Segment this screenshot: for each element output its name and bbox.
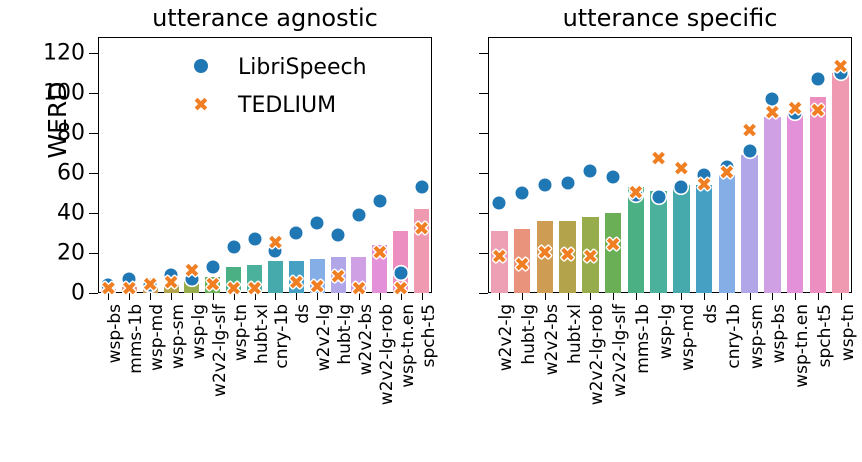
- bar: [832, 73, 848, 293]
- x-axis-tick-label: wsp-md: [678, 304, 698, 371]
- data-point-librispeech: [675, 181, 688, 194]
- legend-x-icon: ✖: [186, 96, 216, 115]
- y-axis-tick: [89, 253, 98, 254]
- data-point-librispeech: [811, 73, 824, 86]
- data-point-tedlium: ✖: [393, 281, 409, 297]
- x-axis-tick-label: wsp-bs: [105, 304, 125, 363]
- data-point-tedlium: ✖: [491, 249, 507, 265]
- x-axis-tick-label: ds: [701, 304, 721, 324]
- x-axis-tick: [750, 293, 751, 300]
- y-axis-tick: [89, 53, 98, 54]
- bar: [787, 113, 803, 293]
- y-axis-tick: [89, 93, 98, 94]
- y-axis-tick: [89, 213, 98, 214]
- data-point-tedlium: ✖: [651, 151, 667, 167]
- x-axis-tick: [681, 293, 682, 300]
- x-axis-tick: [522, 293, 523, 300]
- legend-label: TEDLIUM: [238, 93, 336, 118]
- x-axis-tick: [192, 293, 193, 300]
- data-point-tedlium: ✖: [309, 279, 325, 295]
- x-axis-tick: [422, 293, 423, 300]
- data-point-tedlium: ✖: [163, 275, 179, 291]
- y-axis-tick: [89, 293, 98, 294]
- data-point-tedlium: ✖: [537, 245, 553, 261]
- data-point-librispeech: [516, 187, 529, 200]
- bar: [810, 97, 826, 293]
- x-axis-tick: [499, 293, 500, 300]
- x-axis-tick: [636, 293, 637, 300]
- bar: [741, 155, 757, 293]
- x-axis-tick-label: w2v2-lg-slf: [210, 304, 230, 397]
- x-axis-tick: [338, 293, 339, 300]
- data-point-librispeech: [206, 261, 219, 274]
- panel-utterance-specific: utterance specific w2v2-lghubt-lgw2v2-bs…: [488, 37, 852, 293]
- x-axis-tick: [727, 293, 728, 300]
- x-axis-tick: [171, 293, 172, 300]
- y-axis-tick: [89, 133, 98, 134]
- data-point-tedlium: ✖: [810, 103, 826, 119]
- panel-title: utterance agnostic: [98, 3, 432, 33]
- bar: [673, 185, 689, 293]
- data-point-librispeech: [584, 165, 597, 178]
- data-point-tedlium: ✖: [696, 177, 712, 193]
- x-axis-tick-label: ds: [293, 304, 313, 324]
- x-axis-tick-label: wsp-lg: [656, 304, 676, 359]
- x-axis-tick-label: w2v2-bs: [356, 304, 376, 375]
- y-axis-tick: [479, 293, 488, 294]
- plot-area: w2v2-lghubt-lgw2v2-bshubt-xlw2v2-lg-robw…: [488, 37, 852, 293]
- y-axis-tick: [89, 173, 98, 174]
- x-axis-tick-label: w2v2-bs: [542, 304, 562, 375]
- x-axis-tick-label: wsp-sm: [168, 304, 188, 369]
- data-point-librispeech: [652, 191, 665, 204]
- data-point-librispeech: [332, 229, 345, 242]
- x-axis-tick-label: wsp-lg: [189, 304, 209, 359]
- data-point-tedlium: ✖: [372, 245, 388, 261]
- y-axis-tick-label: 100: [43, 81, 85, 106]
- y-axis-tick: [479, 133, 488, 134]
- data-point-librispeech: [561, 177, 574, 190]
- x-axis-tick-label: spch-t5: [419, 304, 439, 367]
- x-axis-tick-label: spch-t5: [815, 304, 835, 367]
- x-axis-tick: [568, 293, 569, 300]
- x-axis-tick-label: hubt-xl: [252, 304, 272, 364]
- y-axis-tick: [479, 53, 488, 54]
- data-point-tedlium: ✖: [205, 277, 221, 293]
- data-point-tedlium: ✖: [142, 277, 158, 293]
- x-axis-tick-label: wsp-tn.en: [792, 304, 812, 388]
- x-axis-tick: [613, 293, 614, 300]
- data-point-tedlium: ✖: [100, 281, 116, 297]
- y-axis-tick-label: 0: [71, 281, 85, 306]
- y-axis-tick: [479, 213, 488, 214]
- x-axis-tick-label: wsp-tn: [231, 304, 251, 361]
- x-axis-tick-label: cnry-1b: [724, 304, 744, 369]
- legend-label: LibriSpeech: [238, 55, 367, 80]
- data-point-tedlium: ✖: [582, 249, 598, 265]
- data-point-librispeech: [415, 181, 428, 194]
- data-point-tedlium: ✖: [414, 221, 430, 237]
- x-axis-tick: [818, 293, 819, 300]
- panel-utterance-agnostic: utterance agnostic 020406080100120wsp-bs…: [98, 37, 432, 293]
- x-axis-tick-label: w2v2-lg-rob: [377, 304, 397, 405]
- x-axis-tick-label: mms-1b: [126, 304, 146, 374]
- x-axis-tick-label: wsp-tn: [838, 304, 858, 361]
- legend-entry: ✖TEDLIUM: [186, 93, 336, 118]
- data-point-librispeech: [607, 171, 620, 184]
- data-point-librispeech: [493, 197, 506, 210]
- x-axis-tick: [704, 293, 705, 300]
- data-point-tedlium: ✖: [787, 101, 803, 117]
- x-axis-tick-label: wsp-bs: [769, 304, 789, 363]
- x-axis-tick: [275, 293, 276, 300]
- x-axis-tick-label: hubt-lg: [335, 304, 355, 365]
- y-axis-tick: [479, 253, 488, 254]
- data-point-tedlium: ✖: [764, 105, 780, 121]
- x-axis-tick-label: mms-1b: [633, 304, 653, 374]
- figure-root: WERD utterance agnostic 020406080100120w…: [0, 0, 862, 462]
- data-point-librispeech: [248, 233, 261, 246]
- data-point-tedlium: ✖: [330, 269, 346, 285]
- data-point-tedlium: ✖: [833, 59, 849, 75]
- x-axis-tick: [590, 293, 591, 300]
- data-point-librispeech: [373, 195, 386, 208]
- y-axis-tick-label: 120: [43, 41, 85, 66]
- data-point-tedlium: ✖: [673, 161, 689, 177]
- x-axis-tick: [659, 293, 660, 300]
- data-point-librispeech: [538, 179, 551, 192]
- legend-entry: LibriSpeech: [186, 55, 367, 80]
- data-point-tedlium: ✖: [267, 235, 283, 251]
- x-axis-tick-label: cnry-1b: [272, 304, 292, 369]
- legend-circle-icon: [186, 58, 216, 77]
- data-point-tedlium: ✖: [605, 237, 621, 253]
- bar: [650, 191, 666, 293]
- y-axis-tick-label: 20: [57, 241, 85, 266]
- y-axis-tick-label: 80: [57, 121, 85, 146]
- x-axis-tick-label: wsp-tn.en: [398, 304, 418, 388]
- data-point-tedlium: ✖: [560, 247, 576, 263]
- x-axis-tick: [296, 293, 297, 300]
- bar: [696, 185, 712, 293]
- data-point-tedlium: ✖: [719, 165, 735, 181]
- panel-title: utterance specific: [488, 3, 852, 33]
- bar: [764, 117, 780, 293]
- y-axis-tick-label: 60: [57, 161, 85, 186]
- x-axis-tick-label: wsp-sm: [747, 304, 767, 369]
- data-point-tedlium: ✖: [628, 185, 644, 201]
- bar: [268, 261, 283, 293]
- x-axis-tick-label: hubt-xl: [565, 304, 585, 364]
- data-point-tedlium: ✖: [351, 281, 367, 297]
- data-point-tedlium: ✖: [121, 281, 137, 297]
- x-axis-tick-label: w2v2-lg-rob: [587, 304, 607, 405]
- x-axis-tick: [545, 293, 546, 300]
- x-axis-tick-label: w2v2-lg-slf: [610, 304, 630, 397]
- data-point-librispeech: [352, 209, 365, 222]
- x-axis-tick-label: wsp-md: [147, 304, 167, 371]
- data-point-tedlium: ✖: [288, 275, 304, 291]
- data-point-tedlium: ✖: [742, 123, 758, 139]
- data-point-librispeech: [290, 227, 303, 240]
- bar: [719, 175, 735, 293]
- data-point-librispeech: [743, 145, 756, 158]
- data-point-tedlium: ✖: [247, 281, 263, 297]
- x-axis-tick: [841, 293, 842, 300]
- x-axis-tick-label: w2v2-lg: [314, 304, 334, 371]
- data-point-tedlium: ✖: [226, 281, 242, 297]
- y-axis-tick-label: 40: [57, 201, 85, 226]
- x-axis-tick: [380, 293, 381, 300]
- data-point-librispeech: [227, 241, 240, 254]
- x-axis-tick-label: w2v2-lg: [496, 304, 516, 371]
- data-point-tedlium: ✖: [184, 263, 200, 279]
- data-point-librispeech: [311, 217, 324, 230]
- x-axis-tick: [795, 293, 796, 300]
- x-axis-tick-label: hubt-lg: [519, 304, 539, 365]
- y-axis-tick: [479, 93, 488, 94]
- y-axis-tick: [479, 173, 488, 174]
- data-point-tedlium: ✖: [514, 257, 530, 273]
- x-axis-tick: [772, 293, 773, 300]
